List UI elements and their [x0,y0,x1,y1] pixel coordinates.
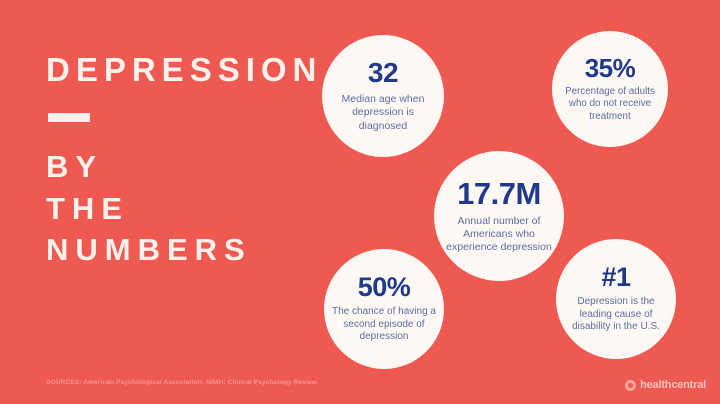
brand-logo: healthcentral [625,379,706,391]
sources-note: SOURCES: American Psychological Associat… [46,378,326,388]
stat-circle-annual-number: 17.7M Annual number of Americans who exp… [434,151,564,281]
title-line-by: BY [46,146,296,188]
title-line-the: THE [46,188,296,230]
stat-number-annual-number: 17.7M [457,178,541,209]
stat-caption-annual-number: Annual number of Americans who experienc… [440,215,558,254]
circle-dot-icon [625,380,636,391]
title-line-depression: DEPRESSION [46,48,296,92]
stat-circle-leading-cause: #1 Depression is the leading cause of di… [556,239,676,359]
page-title: DEPRESSION BY THE NUMBERS [46,48,296,271]
stat-circle-second-episode: 50% The chance of having a second episod… [324,249,444,369]
stat-circle-no-treatment: 35% Percentage of adults who do not rece… [552,31,668,147]
stat-number-second-episode: 50% [358,274,411,301]
stat-number-median-age: 32 [368,59,398,87]
stat-caption-leading-cause: Depression is the leading cause of disab… [563,296,669,333]
stat-circle-median-age: 32 Median age when depression is diagnos… [322,35,444,157]
stat-number-leading-cause: #1 [601,264,630,291]
title-line-numbers: NUMBERS [46,229,296,271]
stat-caption-no-treatment: Percentage of adults who do not receive … [560,86,660,122]
brand-name: healthcentral [640,379,706,391]
stat-number-no-treatment: 35% [585,55,636,81]
infographic-canvas: DEPRESSION BY THE NUMBERS 32 Median age … [0,0,720,404]
stat-caption-median-age: Median age when depression is diagnosed [331,93,435,132]
title-divider-rule [48,113,90,122]
stat-caption-second-episode: The chance of having a second episode of… [332,306,436,343]
